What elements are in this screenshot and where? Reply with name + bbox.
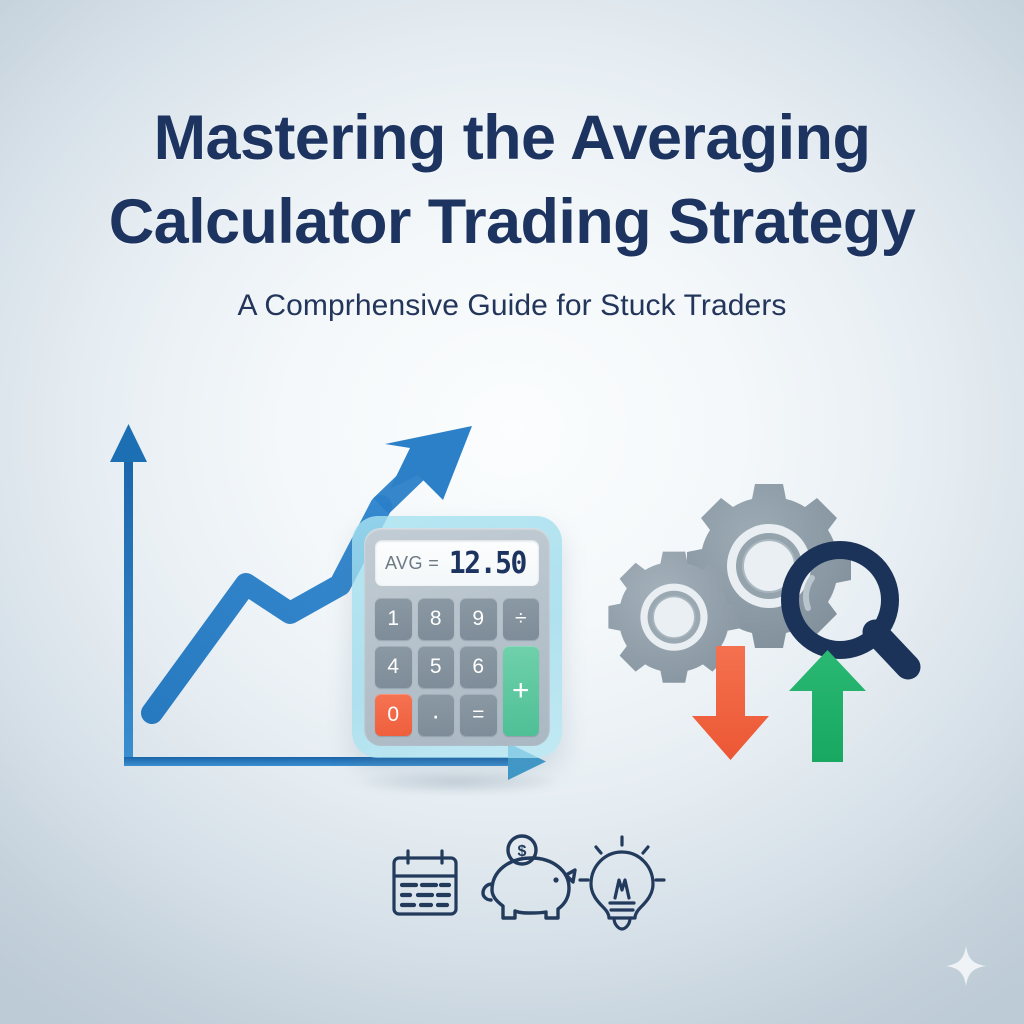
chart-y-axis: [124, 448, 133, 766]
calc-key-1[interactable]: 1: [375, 598, 412, 640]
calc-key-plus[interactable]: +: [503, 646, 540, 736]
chart-y-axis-arrowhead: [110, 424, 147, 462]
calc-key-equals[interactable]: =: [460, 694, 497, 736]
calculator-display: AVG = 12.50: [375, 540, 539, 586]
sparkle-icon: [944, 944, 988, 988]
calculator-display-value: 12.50: [449, 546, 526, 581]
calculator-shadow: [360, 770, 556, 794]
calc-key-8[interactable]: 8: [418, 598, 455, 640]
calc-key-divide[interactable]: ÷: [503, 598, 540, 640]
calc-key-4[interactable]: 4: [375, 646, 412, 688]
calc-key-6[interactable]: 6: [460, 646, 497, 688]
calculator-display-label: AVG =: [385, 553, 439, 574]
calculator-widget[interactable]: AVG = 12.50 1 8 9 ÷ 4 5 6 + 0 · =: [352, 516, 562, 758]
piggy-bank-icon: $: [483, 836, 575, 918]
calendar-icon: [394, 851, 456, 914]
arrow-up-icon: [789, 650, 866, 762]
illustration-stage: $: [0, 0, 1024, 1024]
calc-key-5[interactable]: 5: [418, 646, 455, 688]
chart-x-axis: [124, 757, 522, 766]
lightbulb-icon: [580, 837, 664, 929]
calculator-keypad[interactable]: 1 8 9 ÷ 4 5 6 + 0 · =: [375, 598, 539, 736]
calculator-body: AVG = 12.50 1 8 9 ÷ 4 5 6 + 0 · =: [364, 528, 550, 746]
calc-key-decimal[interactable]: ·: [418, 694, 455, 736]
svg-text:$: $: [518, 843, 527, 860]
poster-canvas: Mastering the Averaging Calculator Tradi…: [0, 0, 1024, 1024]
calc-key-0[interactable]: 0: [375, 694, 412, 736]
calc-key-9[interactable]: 9: [460, 598, 497, 640]
